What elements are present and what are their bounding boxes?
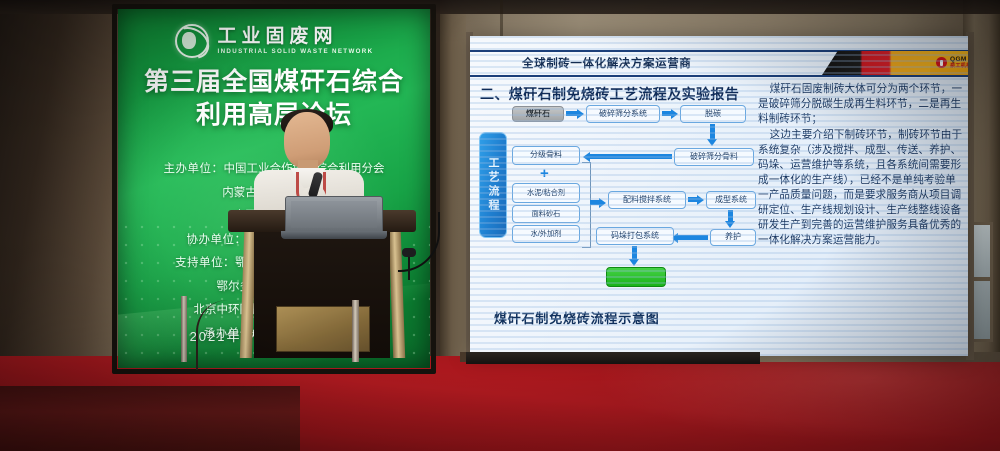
screen-scanlines (470, 36, 968, 356)
laptop-base (281, 231, 387, 239)
projection-screen: 全球制砖一体化解决方案运营商 QGM 泉工机械 ZENITH 德国西诺德 二 (470, 36, 968, 356)
floor-strip (0, 386, 300, 451)
mic-stand (408, 254, 410, 280)
laptop-screen (291, 201, 377, 228)
screen-bottom-bar (466, 352, 760, 364)
stand-pole-right (352, 300, 359, 362)
wall-pillar-left (440, 0, 466, 380)
stand-pole-left (181, 296, 187, 362)
laptop-lid (285, 196, 383, 232)
laptop (281, 196, 387, 242)
carpet-highlight (560, 360, 1000, 450)
mic-head-icon (402, 248, 416, 257)
conference-photo: 工业固废网 INDUSTRIAL SOLID WASTE NETWORK 第三届… (0, 0, 1000, 451)
